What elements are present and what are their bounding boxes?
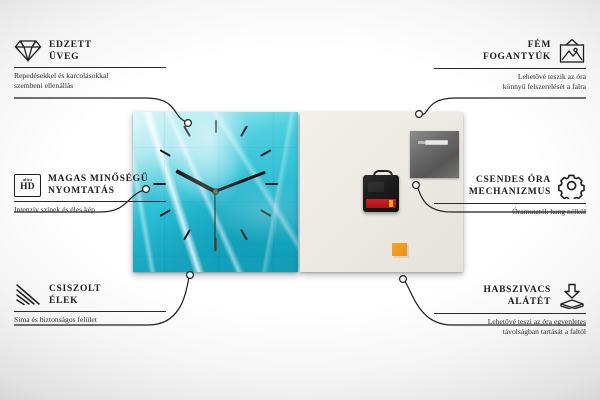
callout-divider [14,67,166,68]
connector-metal-handles [420,98,586,115]
callout-title: FÉM FOGANTYÚK [483,39,551,63]
callout-header: CSENDES ÓRA MECHANIZMUS [434,173,586,199]
diamond-icon [14,38,42,63]
callout-title: CSENDES ÓRA MECHANIZMUS [469,174,551,198]
callout-polished-edges: CSISZOLT ÉLEK Sima és biztonságos felüle… [14,283,166,325]
callout-title: CSISZOLT ÉLEK [49,283,101,307]
callout-divider [434,68,586,69]
ultra-hd-icon: ultra HD [14,174,41,197]
connector-tempered-glass [14,98,186,122]
callout-divider [14,311,166,312]
callout-divider [14,201,166,202]
callout-header: FÉM FOGANTYÚK [434,38,586,64]
callout-divider [434,203,586,204]
callout-silent-mechanism: CSENDES ÓRA MECHANIZMUS Óramutatók hang … [434,173,586,217]
callout-description: Óramutatók hang nélkül [434,207,586,217]
connector-dot-tempered-glass [185,120,192,127]
foam-pad-icon [558,283,586,309]
callout-header: HABSZIVACS ALÁTÉT [434,283,586,309]
connector-dot-metal-handles [416,111,423,118]
callout-print-quality: ultra HD MAGAS MINŐSÉGŰ NYOMTATÁS Intenz… [14,173,166,215]
connector-dot-silent-mechanism [413,182,420,189]
callout-description: Repedésekkel és karcolásokkal szembeni e… [14,71,166,91]
gear-icon [558,173,586,199]
callout-header: CSISZOLT ÉLEK [14,283,166,307]
callout-header: EDZETT ÜVEG [14,38,166,63]
callout-title: MAGAS MINŐSÉGŰ NYOMTATÁS [48,173,148,197]
callout-description: Lehetővé teszik az óra könnyű felszerelé… [434,72,586,92]
callout-description: Intenzív színek és éles kép [14,205,166,215]
callout-divider [434,313,586,314]
ultra-hd-icon-hd-label: HD [20,183,35,193]
callout-description: Lehetővé teszi az óra egyenletes távolsá… [434,317,586,337]
connector-dot-foam-backing [400,276,407,283]
callout-tempered-glass: EDZETT ÜVEG Repedésekkel és karcolásokka… [14,38,166,91]
callout-foam-backing: HABSZIVACS ALÁTÉT Lehetővé teszi az óra … [434,283,586,337]
connector-dot-polished-edges [187,272,194,279]
callout-header: ultra HD MAGAS MINŐSÉGŰ NYOMTATÁS [14,173,166,197]
picture-frame-icon [558,38,586,64]
callout-title: HABSZIVACS ALÁTÉT [483,284,551,308]
callout-description: Sima és biztonságos felület [14,315,166,325]
callout-metal-handles: FÉM FOGANTYÚK Lehetővé teszik az óra kön… [434,38,586,92]
callout-title: EDZETT ÜVEG [49,39,92,63]
infographic-canvas: EDZETT ÜVEG Repedésekkel és karcolásokka… [0,0,600,400]
polished-edges-icon [14,283,42,307]
